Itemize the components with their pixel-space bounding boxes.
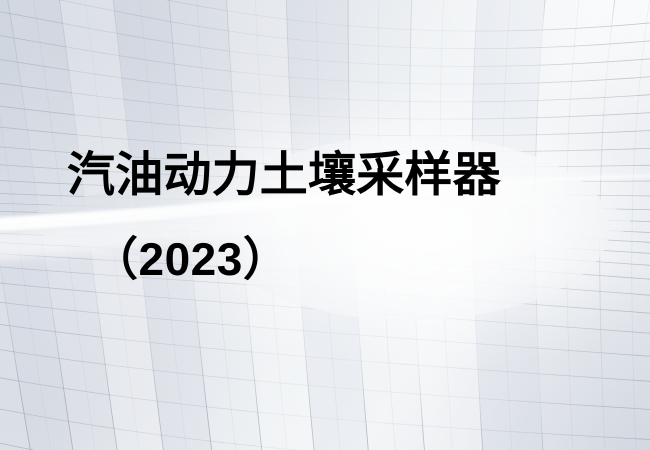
- light-streak-graphic: [0, 0, 650, 450]
- title-banner: 汽油动力土壤采样器 （2023）: [0, 0, 650, 450]
